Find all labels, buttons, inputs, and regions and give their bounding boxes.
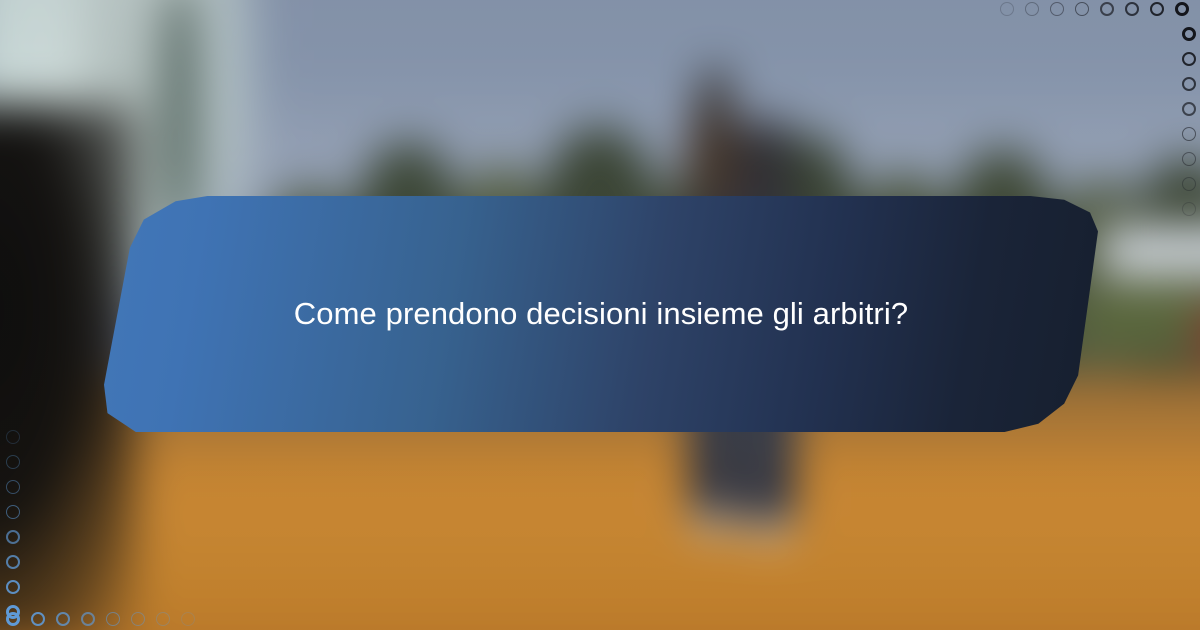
decorative-circle — [1182, 177, 1196, 191]
decorative-circle — [1125, 2, 1139, 16]
decorative-circle — [6, 455, 20, 469]
decorative-circle — [1182, 127, 1196, 141]
decorative-circle — [156, 612, 170, 626]
decorative-circle — [131, 612, 145, 626]
decorative-circle — [81, 612, 95, 626]
decorative-circle — [1050, 2, 1064, 16]
decorative-circle — [56, 612, 70, 626]
decorative-circle — [1182, 152, 1196, 166]
decorative-circle — [106, 612, 120, 626]
decorative-circle — [6, 530, 20, 544]
decorative-circle — [1175, 2, 1189, 16]
decorative-circle — [1000, 2, 1014, 16]
decorative-circle — [181, 612, 195, 626]
decorative-circle — [1150, 2, 1164, 16]
decorative-circle — [6, 555, 20, 569]
decorative-circle — [6, 612, 20, 626]
decorative-circle — [1182, 52, 1196, 66]
decorative-circle — [6, 580, 20, 594]
decorative-circle — [31, 612, 45, 626]
decorative-circle — [1182, 77, 1196, 91]
decorative-circle — [6, 505, 20, 519]
quote-card: Come prendono decisioni insieme gli arbi… — [0, 0, 1200, 630]
decorative-circle — [6, 430, 20, 444]
decorative-circle — [1075, 2, 1089, 16]
banner-title: Come prendono decisioni insieme gli arbi… — [104, 196, 1098, 432]
decorative-circle — [1182, 202, 1196, 216]
quote-banner: Come prendono decisioni insieme gli arbi… — [104, 196, 1098, 432]
decorative-circle — [1182, 27, 1196, 41]
decorative-circle — [1025, 2, 1039, 16]
decorative-circle — [1100, 2, 1114, 16]
decorative-circle — [1182, 102, 1196, 116]
decorative-circle — [6, 480, 20, 494]
